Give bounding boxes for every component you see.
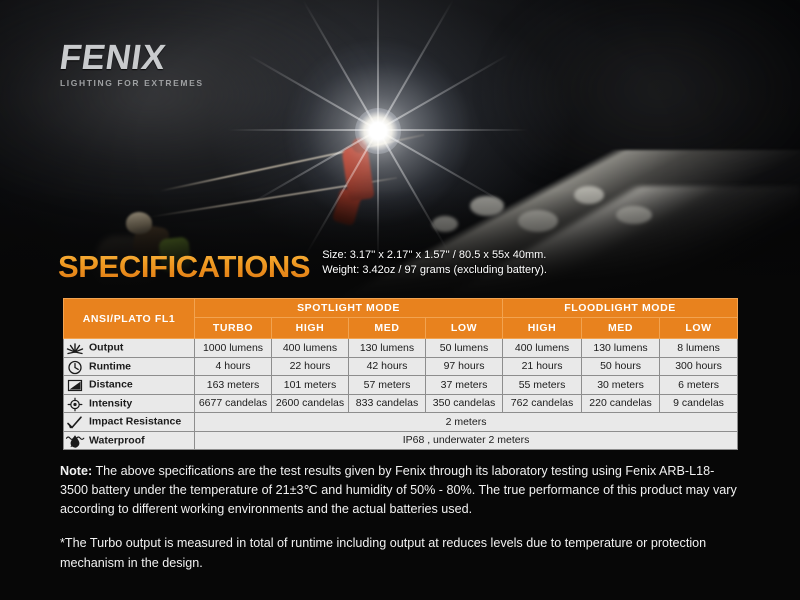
- cell-runtime-spot-high: 22 hours: [272, 357, 349, 376]
- table-row: Output 1000 lumens 400 lumens 130 lumens…: [64, 339, 738, 358]
- cell-output-spot-high: 400 lumens: [272, 339, 349, 358]
- cell-intensity-spot-turbo: 6677 candelas: [195, 394, 272, 413]
- table-row: Distance 163 meters 101 meters 57 meters…: [64, 376, 738, 395]
- logo-tagline: LIGHTING FOR EXTREMES: [60, 78, 204, 88]
- cell-distance-flood-med: 30 meters: [582, 376, 660, 395]
- cell-intensity-spot-high: 2600 candelas: [272, 394, 349, 413]
- footnote-paragraph: *The Turbo output is measured in total o…: [60, 534, 740, 572]
- specifications-header: SPECIFICATIONS Size: 3.17'' x 2.17'' x 1…: [58, 246, 547, 282]
- cell-output-flood-med: 130 lumens: [582, 339, 660, 358]
- cell-runtime-flood-med: 50 hours: [582, 357, 660, 376]
- level-spotlight-low: LOW: [426, 317, 503, 338]
- table-header-group-row: ANSI/PLATO FL1 SPOTLIGHT MODE FLOODLIGHT…: [64, 299, 738, 318]
- level-floodlight-low: LOW: [660, 317, 738, 338]
- table-row: Impact Resistance 2 meters: [64, 413, 738, 432]
- level-floodlight-high: HIGH: [503, 317, 582, 338]
- group-header-spotlight: SPOTLIGHT MODE: [195, 299, 503, 318]
- waterdrop-icon: [64, 434, 86, 449]
- row-label-waterproof: Waterproof: [64, 431, 195, 450]
- row-label-impact-resistance: Impact Resistance: [64, 413, 195, 432]
- level-spotlight-turbo: TURBO: [195, 317, 272, 338]
- ansi-plato-label: ANSI/PLATO FL1: [64, 299, 195, 339]
- cell-intensity-spot-med: 833 candelas: [349, 394, 426, 413]
- table-row: Runtime 4 hours 22 hours 42 hours 97 hou…: [64, 357, 738, 376]
- logo-wordmark: FENIX: [58, 40, 168, 75]
- cell-output-flood-low: 8 lumens: [660, 339, 738, 358]
- cell-intensity-flood-med: 220 candelas: [582, 394, 660, 413]
- notes-section: Note: The above specifications are the t…: [60, 462, 740, 573]
- cell-distance-flood-low: 6 meters: [660, 376, 738, 395]
- specifications-table: ANSI/PLATO FL1 SPOTLIGHT MODE FLOODLIGHT…: [63, 298, 738, 450]
- row-label-text: Runtime: [89, 360, 131, 372]
- weight-line: Weight: 3.42oz / 97 grams (excluding bat…: [322, 263, 547, 278]
- cell-distance-spot-high: 101 meters: [272, 376, 349, 395]
- cell-intensity-spot-low: 350 candelas: [426, 394, 503, 413]
- level-floodlight-med: MED: [582, 317, 660, 338]
- cell-runtime-flood-high: 21 hours: [503, 357, 582, 376]
- cell-distance-spot-low: 37 meters: [426, 376, 503, 395]
- page-title: SPECIFICATIONS: [58, 246, 310, 282]
- cell-output-spot-turbo: 1000 lumens: [195, 339, 272, 358]
- cell-distance-spot-med: 57 meters: [349, 376, 426, 395]
- level-spotlight-high: HIGH: [272, 317, 349, 338]
- cell-runtime-spot-low: 97 hours: [426, 357, 503, 376]
- cell-distance-spot-turbo: 163 meters: [195, 376, 272, 395]
- dimensions-block: Size: 3.17'' x 2.17'' x 1.57'' / 80.5 x …: [322, 246, 547, 278]
- clock-icon: [64, 360, 86, 375]
- row-label-intensity: Intensity: [64, 394, 195, 413]
- table-row: Waterproof IP68 , underwater 2 meters: [64, 431, 738, 450]
- size-line: Size: 3.17'' x 2.17'' x 1.57'' / 80.5 x …: [322, 248, 547, 263]
- group-header-floodlight: FLOODLIGHT MODE: [503, 299, 738, 318]
- cell-runtime-flood-low: 300 hours: [660, 357, 738, 376]
- row-label-text: Impact Resistance: [89, 416, 181, 428]
- sunburst-icon: [64, 341, 86, 356]
- crosshair-icon: [64, 397, 86, 412]
- cell-runtime-spot-med: 42 hours: [349, 357, 426, 376]
- table-row: Intensity 6677 candelas 2600 candelas 83…: [64, 394, 738, 413]
- cell-output-spot-med: 130 lumens: [349, 339, 426, 358]
- cell-output-spot-low: 50 lumens: [426, 339, 503, 358]
- cell-waterproof-value: IP68 , underwater 2 meters: [195, 431, 738, 450]
- row-label-text: Distance: [89, 379, 133, 391]
- cell-intensity-flood-high: 762 candelas: [503, 394, 582, 413]
- row-label-runtime: Runtime: [64, 357, 195, 376]
- cell-runtime-spot-turbo: 4 hours: [195, 357, 272, 376]
- note-body: The above specifications are the test re…: [60, 464, 737, 516]
- impact-check-icon: [64, 415, 86, 430]
- note-paragraph: Note: The above specifications are the t…: [60, 462, 740, 519]
- cell-output-flood-high: 400 lumens: [503, 339, 582, 358]
- row-label-text: Intensity: [89, 397, 132, 409]
- note-label: Note:: [60, 464, 92, 478]
- row-label-text: Output: [89, 342, 123, 354]
- cell-intensity-flood-low: 9 candelas: [660, 394, 738, 413]
- row-label-output: Output: [64, 339, 195, 358]
- beam-distance-icon: [64, 378, 86, 393]
- level-spotlight-med: MED: [349, 317, 426, 338]
- row-label-distance: Distance: [64, 376, 195, 395]
- cell-impact-resistance-value: 2 meters: [195, 413, 738, 432]
- cell-distance-flood-high: 55 meters: [503, 376, 582, 395]
- fenix-logo: FENIX LIGHTING FOR EXTREMES: [60, 40, 204, 88]
- row-label-text: Waterproof: [89, 434, 145, 446]
